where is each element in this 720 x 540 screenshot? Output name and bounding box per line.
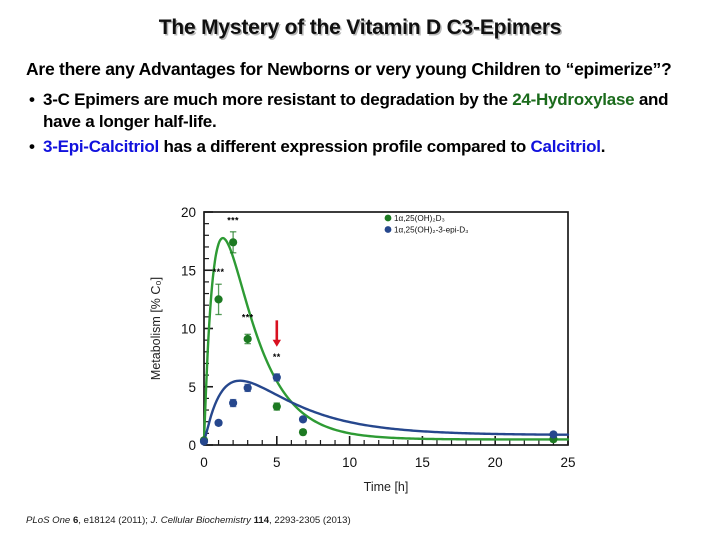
slide-body: Are there any Advantages for Newborns or… <box>26 58 694 160</box>
significance-label: *** <box>242 312 254 322</box>
significance-label: *** <box>227 216 239 226</box>
data-point <box>244 335 252 343</box>
bullet-marker-icon: • <box>29 136 35 158</box>
legend-marker <box>385 226 392 233</box>
x-tick-label: 5 <box>273 455 281 470</box>
data-point <box>200 437 208 445</box>
y-tick-label: 10 <box>181 322 196 337</box>
list-item: • 3-C Epimers are much more resistant to… <box>26 89 694 134</box>
data-point <box>273 402 281 410</box>
legend-label: 1α,25(OH)₂D₃ <box>394 214 445 223</box>
data-point <box>299 428 307 436</box>
bullet-2-highlight-epicalcitriol: 3-Epi-Calcitriol <box>43 137 159 156</box>
chart-svg: 051015200510152025Time [h]Metabolism [% … <box>138 200 590 505</box>
data-point <box>299 415 307 423</box>
bullet-1-highlight-hydroxylase: 24-Hydroxylase <box>512 90 634 109</box>
bullet-list: • 3-C Epimers are much more resistant to… <box>26 89 694 158</box>
x-tick-label: 25 <box>560 455 575 470</box>
legend-marker <box>385 215 392 222</box>
citation-ref-2: , 2293-2305 (2013) <box>269 515 351 526</box>
x-tick-label: 10 <box>342 455 357 470</box>
significance-label: *** <box>213 267 225 277</box>
data-point <box>244 384 252 392</box>
x-tick-label: 15 <box>415 455 430 470</box>
x-tick-label: 20 <box>488 455 503 470</box>
x-axis-title: Time [h] <box>364 480 409 494</box>
bullet-marker-icon: • <box>29 89 35 111</box>
data-point <box>214 419 222 427</box>
y-tick-label: 0 <box>188 438 196 453</box>
y-axis-title: Metabolism [% C₀] <box>149 277 163 380</box>
citation-footer: PLoS One 6, e18124 (2011); J. Cellular B… <box>26 515 646 526</box>
data-point <box>549 430 557 438</box>
significance-label: ** <box>273 352 281 362</box>
x-tick-label: 0 <box>200 455 208 470</box>
slide-canvas: The Mystery of the Vitamin D C3-Epimers … <box>0 0 720 540</box>
data-point <box>229 399 237 407</box>
plot-frame <box>204 212 568 445</box>
citation-journal-2: J. Cellular Biochemistry <box>151 515 254 526</box>
lead-question: Are there any Advantages for Newborns or… <box>26 58 694 81</box>
data-point <box>273 373 281 381</box>
page-title: The Mystery of the Vitamin D C3-Epimers <box>0 16 720 40</box>
y-tick-label: 5 <box>188 380 196 395</box>
bullet-2-highlight-calcitriol: Calcitriol <box>531 137 601 156</box>
citation-volume-2: 114 <box>254 515 269 526</box>
y-tick-label: 20 <box>181 205 196 220</box>
citation-journal-1: PLoS One <box>26 515 73 526</box>
y-tick-label: 15 <box>181 263 196 278</box>
data-point <box>214 295 222 303</box>
bullet-2-text-a: has a different expression profile compa… <box>159 137 531 156</box>
metabolism-chart: 051015200510152025Time [h]Metabolism [% … <box>138 200 590 505</box>
bullet-1-text-a: 3-C Epimers are much more resistant to d… <box>43 90 512 109</box>
bullet-2-text-b: . <box>601 137 605 156</box>
citation-ref-1: , e18124 (2011); <box>78 515 150 526</box>
list-item: • 3-Epi-Calcitriol has a different expre… <box>26 136 694 158</box>
data-point <box>229 238 237 246</box>
legend-label: 1α,25(OH)₂-3-epi-D₃ <box>394 226 469 235</box>
